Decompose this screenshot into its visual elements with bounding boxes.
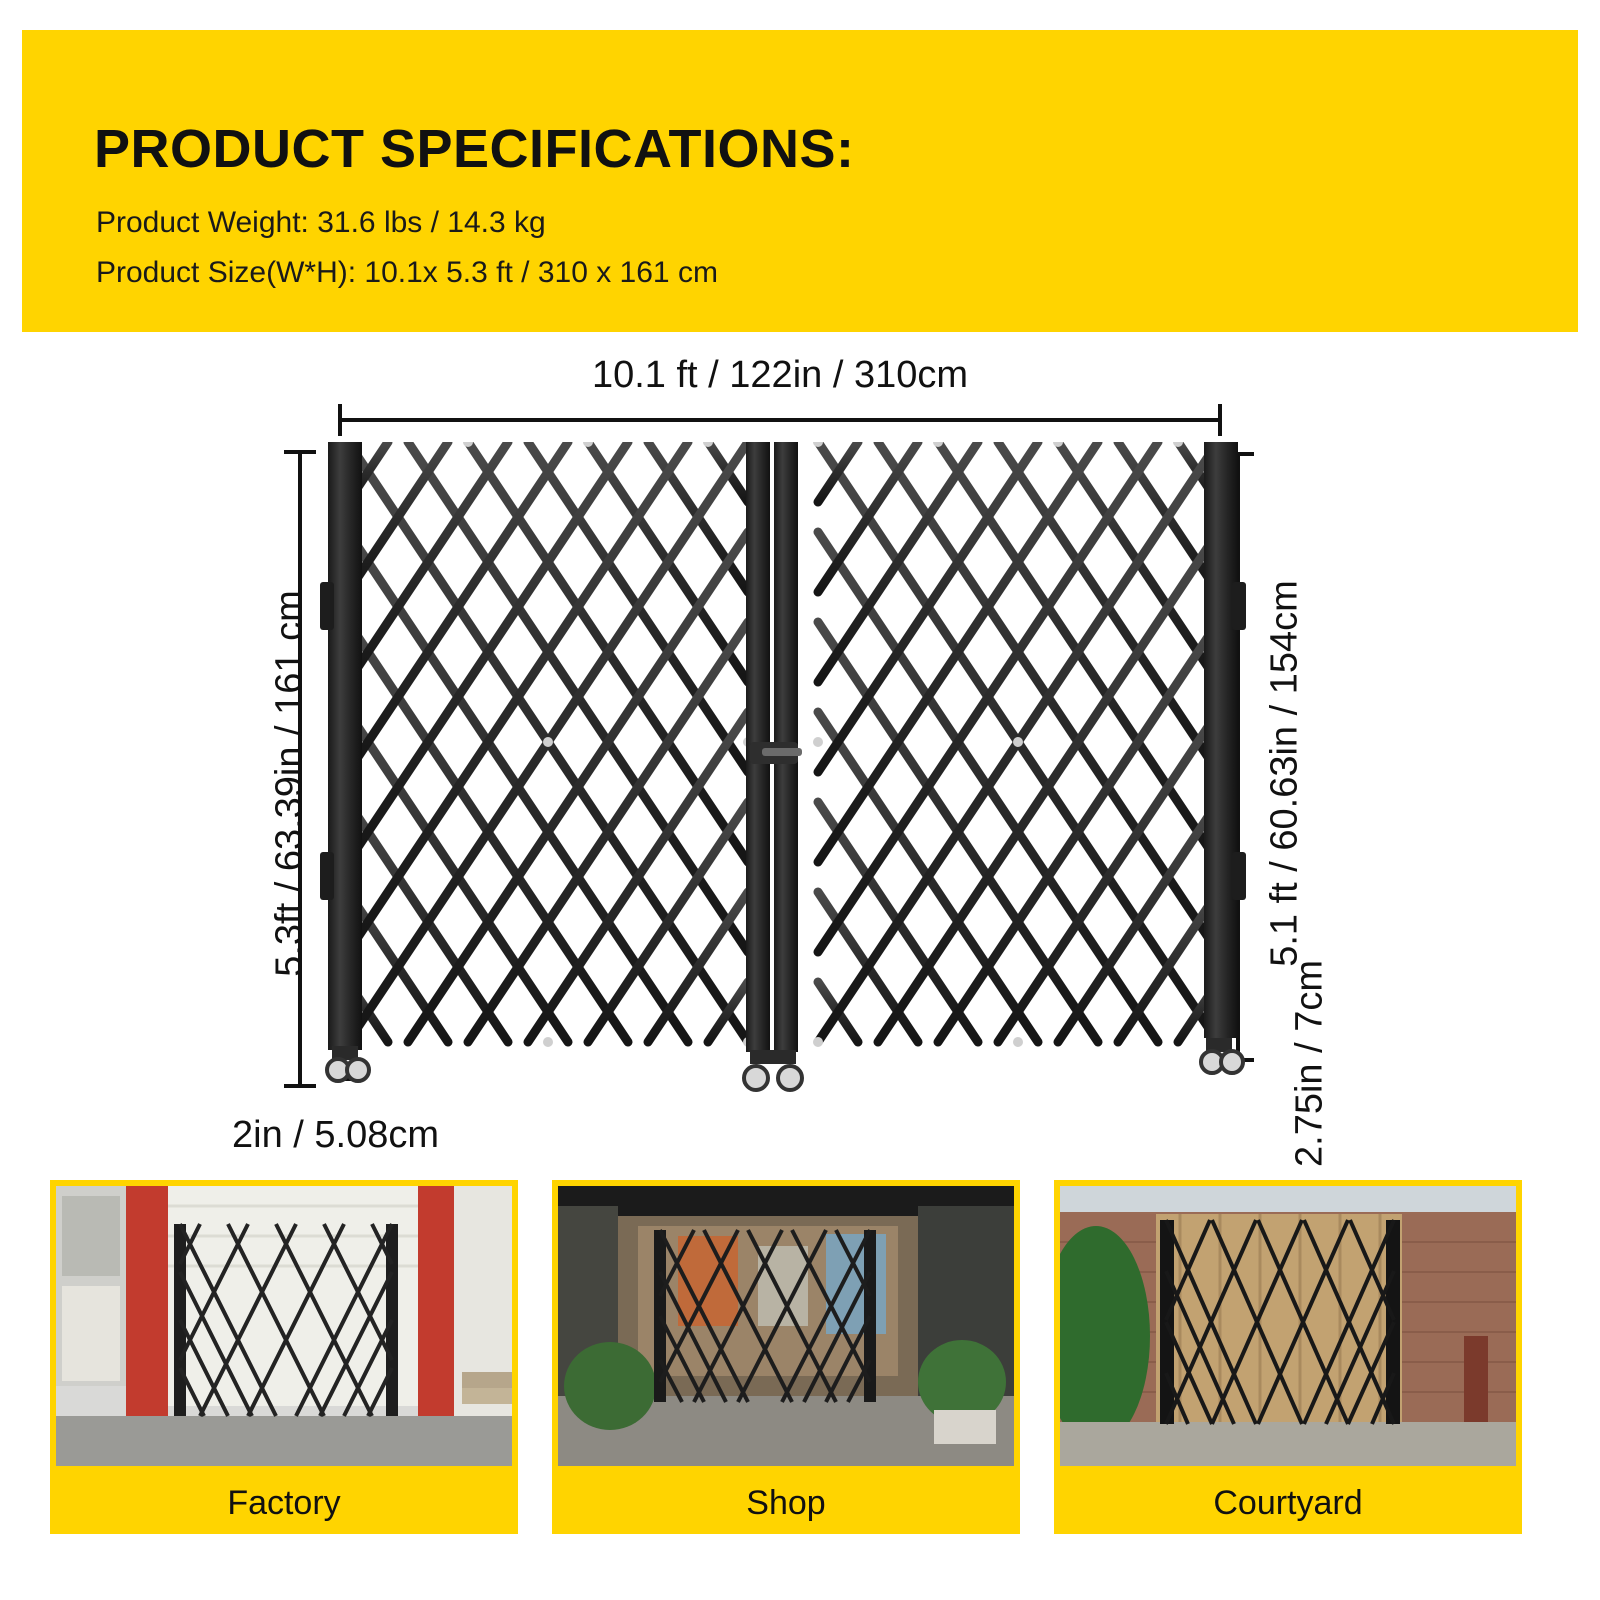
hinge-upper-left [320, 582, 334, 630]
spec-product-size: Product Size(W*H): 10.1x 5.3 ft / 310 x … [96, 256, 718, 290]
hinge-lower-right [1232, 852, 1246, 900]
latch-bolt [762, 748, 802, 756]
caster-center [744, 1050, 802, 1090]
bottom-left-dimension-label: 2in / 5.08cm [232, 1114, 439, 1157]
caster-right [1201, 1038, 1243, 1073]
gate-post-left [320, 442, 362, 1050]
photo-card-shop: Shop [552, 1180, 1020, 1534]
photo-shop [552, 1180, 1020, 1472]
post-bollard [1464, 1336, 1488, 1422]
photo-caption-courtyard: Courtyard [1054, 1472, 1522, 1534]
photo-caption-factory: Factory [50, 1472, 518, 1534]
right-small-dimension-label: 2.75in / 7cm [1289, 899, 1332, 1229]
left-dimension-label: 5.3ft / 63.39in / 161 cm [269, 484, 312, 1084]
application-scenarios: Factory [0, 1180, 1600, 1580]
page-title: PRODUCT SPECIFICATIONS: [94, 118, 855, 180]
hinge-lower-left [320, 852, 334, 900]
photo-caption-shop: Shop [552, 1472, 1020, 1534]
gate-dimension-diagram: 10.1 ft / 122in / 310cm 5.3ft / 63.39in … [0, 332, 1600, 1172]
top-dimension-label: 10.1 ft / 122in / 310cm [500, 354, 1060, 397]
product-specifications-banner: PRODUCT SPECIFICATIONS: Product Weight: … [22, 30, 1578, 332]
top-dimension-line [338, 418, 1222, 422]
caster-left [327, 1046, 369, 1081]
spec-product-weight: Product Weight: 31.6 lbs / 14.3 kg [96, 206, 546, 240]
folding-gate-illustration [318, 442, 1248, 1102]
photo-card-factory: Factory [50, 1180, 518, 1534]
photo-courtyard [1054, 1180, 1522, 1472]
hinge-upper-right [1232, 582, 1246, 630]
bush-left [564, 1342, 656, 1430]
photo-factory [50, 1180, 518, 1472]
photo-card-courtyard: Courtyard [1054, 1180, 1522, 1534]
gate-post-center [746, 442, 802, 1052]
gate-post-right [1204, 442, 1246, 1038]
